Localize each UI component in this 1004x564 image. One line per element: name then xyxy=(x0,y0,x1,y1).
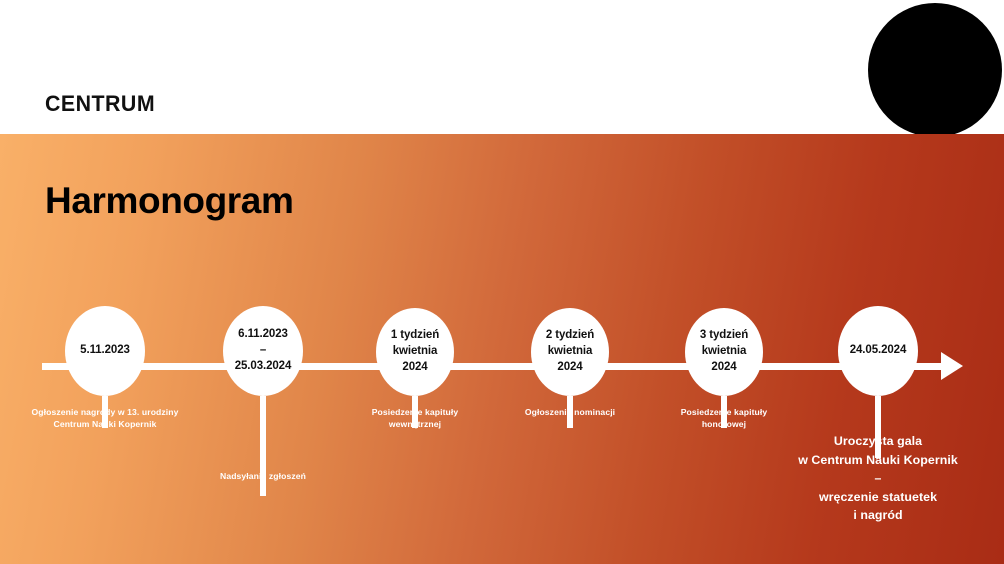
milestone-caption: Uroczysta gala w Centrum Nauki Kopernik … xyxy=(753,432,1003,525)
milestone-date-label: 2 tydzień kwietnia 2024 xyxy=(546,328,594,376)
header-band: CENTRUM NAUKI KOPERNIK xyxy=(0,0,1004,134)
content-band: Harmonogram 5.11.2023Ogłoszenie nagrody … xyxy=(0,134,1004,564)
milestone-date-label: 5.11.2023 xyxy=(80,343,130,359)
milestone-date-label: 6.11.2023 – 25.03.2024 xyxy=(235,327,292,375)
milestone-node[interactable]: 24.05.2024 xyxy=(838,306,918,396)
black-circle-decoration-icon xyxy=(868,3,1002,134)
organization-logo: CENTRUM NAUKI KOPERNIK xyxy=(45,40,162,134)
slide-root: CENTRUM NAUKI KOPERNIK Harmonogram 5.11.… xyxy=(0,0,1004,564)
milestone-caption: Posiedzenie kapituły wewnętrznej xyxy=(325,406,505,431)
milestone-node[interactable]: 6.11.2023 – 25.03.2024 xyxy=(223,306,303,396)
milestone-caption: Ogłoszenie nominacji xyxy=(480,406,660,418)
arrow-right-icon xyxy=(941,352,963,380)
milestone-caption: Posiedzenie kapituły honorowej xyxy=(634,406,814,431)
milestone-node[interactable]: 1 tydzień kwietnia 2024 xyxy=(376,308,454,396)
milestone-date-label: 1 tydzień kwietnia 2024 xyxy=(391,328,439,376)
milestone-caption: Ogłoszenie nagrody w 13. urodziny Centru… xyxy=(0,406,215,431)
milestone-node[interactable]: 5.11.2023 xyxy=(65,306,145,396)
logo-line-1: CENTRUM xyxy=(45,91,162,117)
milestone-date-label: 24.05.2024 xyxy=(850,343,907,359)
milestone-caption: Nadsyłanie zgłoszeń xyxy=(173,470,353,482)
milestone-date-label: 3 tydzień kwietnia 2024 xyxy=(700,328,748,376)
timeline-axis xyxy=(42,363,957,370)
page-title: Harmonogram xyxy=(45,180,293,222)
milestone-node[interactable]: 3 tydzień kwietnia 2024 xyxy=(685,308,763,396)
milestone-node[interactable]: 2 tydzień kwietnia 2024 xyxy=(531,308,609,396)
